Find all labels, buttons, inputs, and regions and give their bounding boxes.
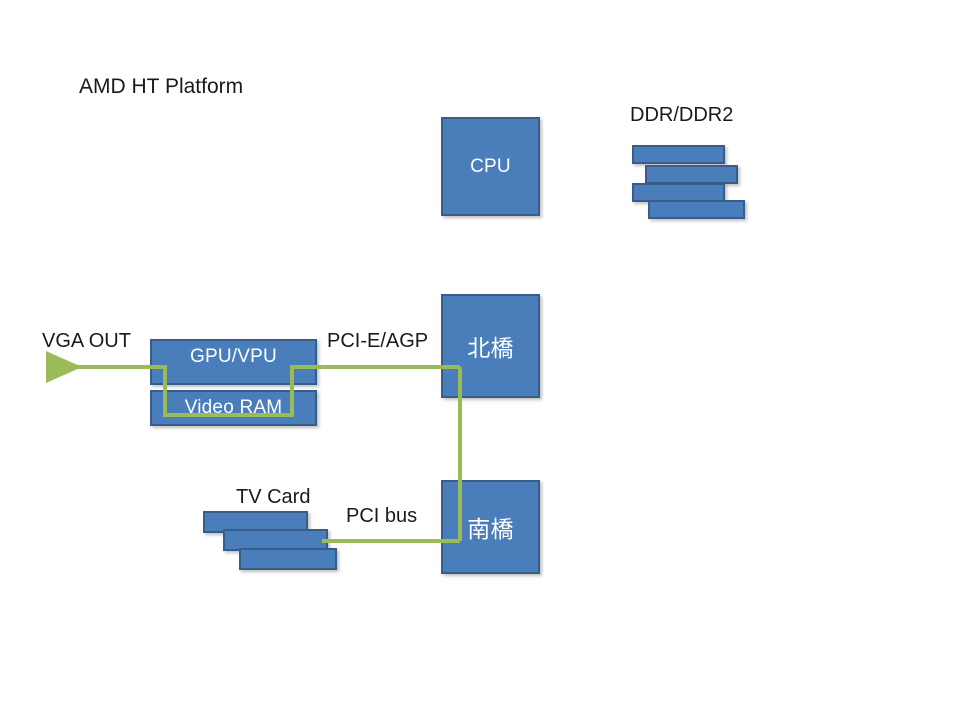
- tv-card-bar[interactable]: [239, 548, 337, 570]
- north-bridge-block[interactable]: 北橋: [441, 294, 540, 398]
- gpu-vpu-label: GPU/VPU: [190, 346, 277, 368]
- cpu-block-label: CPU: [470, 156, 511, 178]
- diagram-canvas: AMD HT Platform DDR/DDR2 VGA OUT PCI-E/A…: [0, 0, 960, 720]
- cpu-block[interactable]: CPU: [441, 117, 540, 216]
- tv-card-label: TV Card: [236, 487, 310, 507]
- pci-bus-label: PCI bus: [346, 506, 417, 526]
- vga-out-label: VGA OUT: [42, 331, 131, 351]
- south-bridge-label: 南橋: [467, 510, 513, 544]
- memory-module-bar[interactable]: [632, 145, 725, 164]
- north-bridge-label: 北橋: [467, 329, 513, 363]
- video-ram-block[interactable]: Video RAM: [150, 390, 317, 426]
- memory-module-bar[interactable]: [648, 200, 745, 219]
- memory-module-bar[interactable]: [645, 165, 738, 184]
- gpu-vpu-block[interactable]: GPU/VPU: [150, 339, 317, 385]
- diagram-title: AMD HT Platform: [79, 76, 243, 97]
- ddr-label: DDR/DDR2: [630, 105, 733, 125]
- south-bridge-block[interactable]: 南橋: [441, 480, 540, 574]
- pcie-agp-label: PCI-E/AGP: [327, 331, 428, 351]
- video-ram-label: Video RAM: [185, 397, 283, 419]
